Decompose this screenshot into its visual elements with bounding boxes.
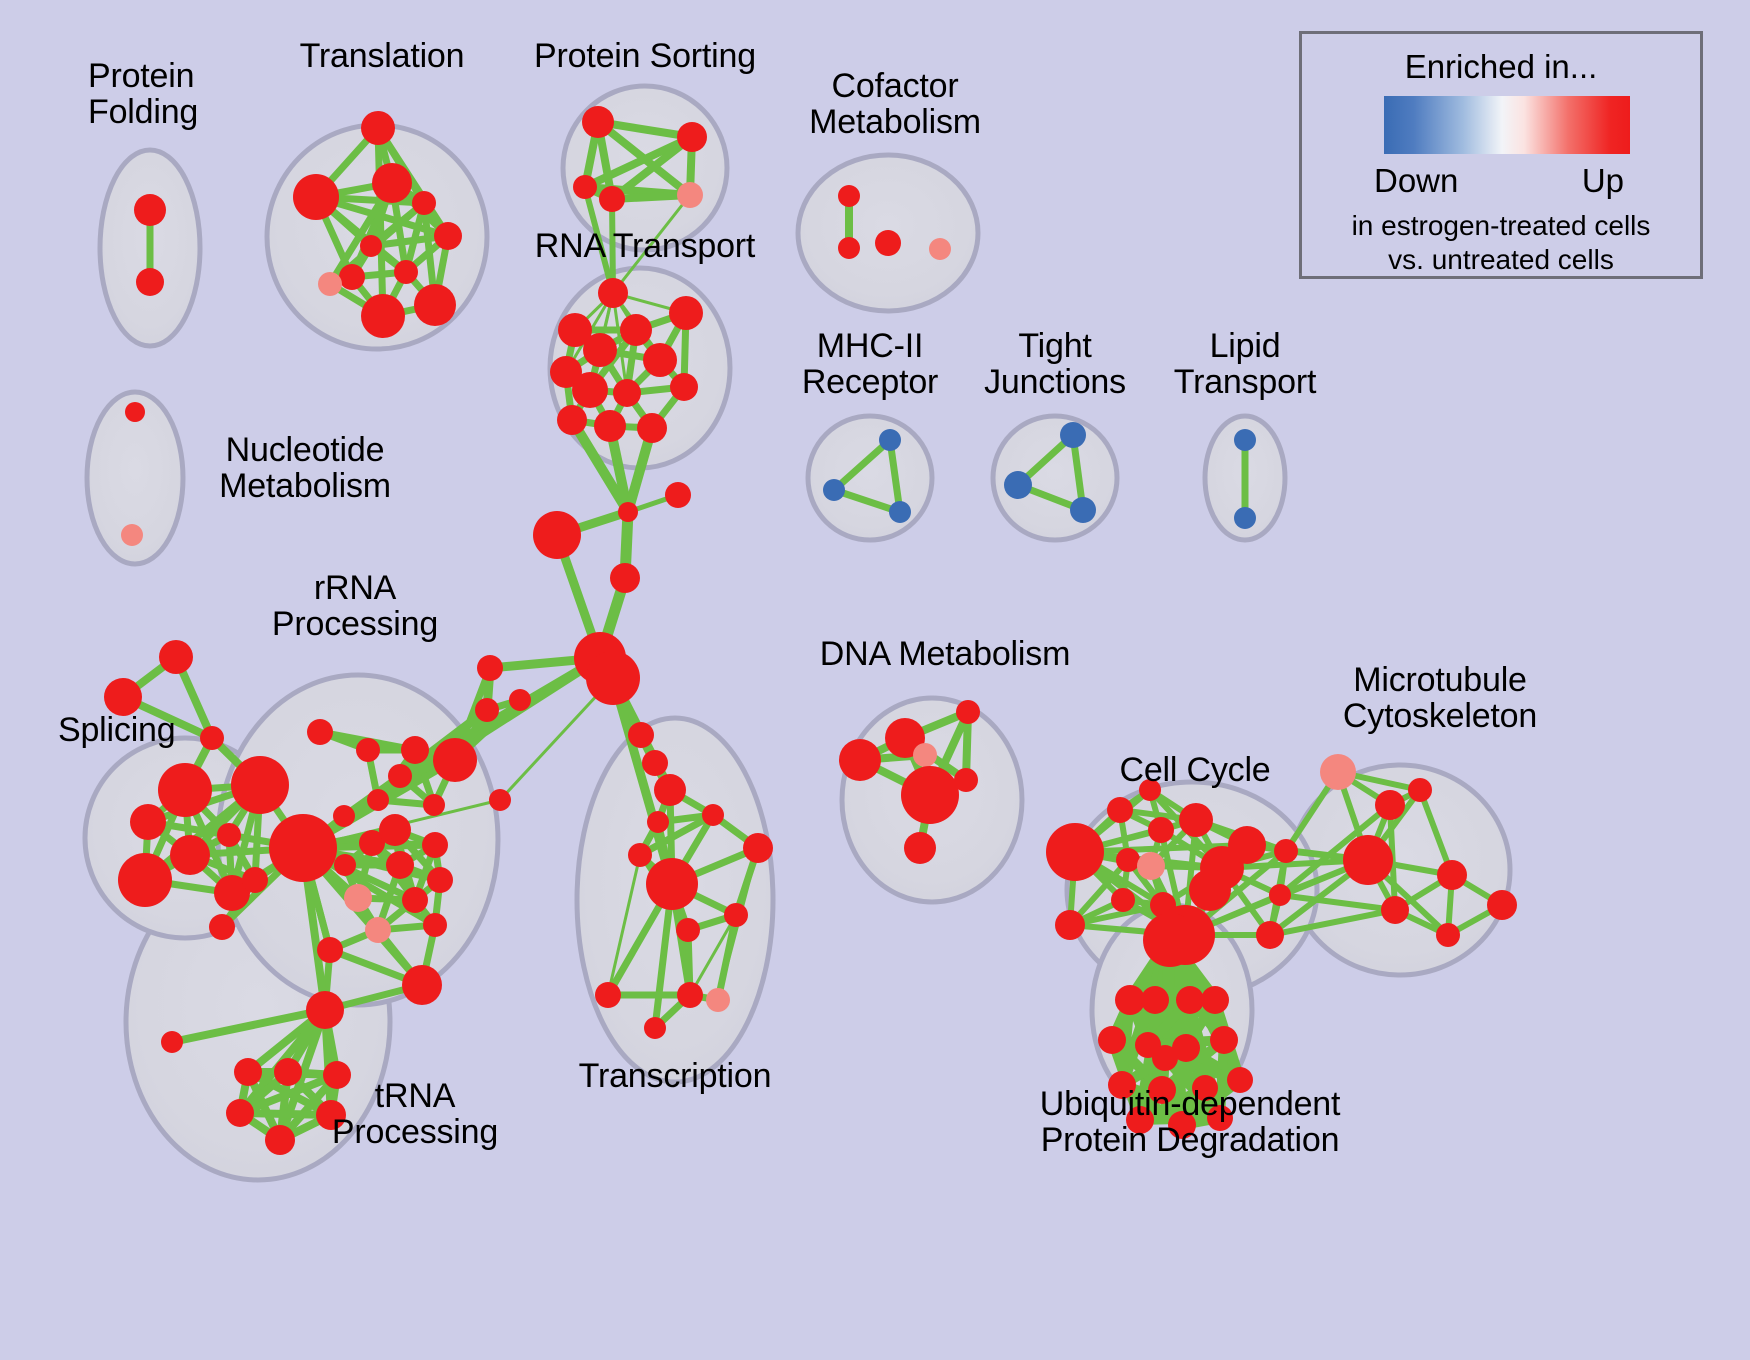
node bbox=[158, 763, 212, 817]
node bbox=[610, 563, 640, 593]
node bbox=[586, 651, 640, 705]
node bbox=[929, 238, 951, 260]
node bbox=[1269, 884, 1291, 906]
node bbox=[904, 832, 936, 864]
node bbox=[572, 372, 608, 408]
legend-up-label: Up bbox=[1582, 162, 1624, 200]
node bbox=[423, 794, 445, 816]
node bbox=[1098, 1026, 1126, 1054]
node bbox=[582, 106, 614, 138]
node bbox=[334, 854, 356, 876]
node bbox=[838, 185, 860, 207]
node bbox=[121, 524, 143, 546]
node bbox=[1107, 797, 1133, 823]
node bbox=[402, 887, 428, 913]
node bbox=[677, 182, 703, 208]
node bbox=[889, 501, 911, 523]
node bbox=[1436, 923, 1460, 947]
node bbox=[509, 689, 531, 711]
node bbox=[1176, 986, 1204, 1014]
node bbox=[401, 736, 429, 764]
node bbox=[677, 982, 703, 1008]
node bbox=[365, 917, 391, 943]
node bbox=[386, 851, 414, 879]
node bbox=[356, 738, 380, 762]
node bbox=[1189, 869, 1231, 911]
node bbox=[677, 122, 707, 152]
node bbox=[647, 811, 669, 833]
node bbox=[620, 314, 652, 346]
node bbox=[379, 814, 411, 846]
node bbox=[1137, 852, 1165, 880]
node bbox=[1381, 896, 1409, 924]
node bbox=[1141, 986, 1169, 1014]
node bbox=[1060, 422, 1086, 448]
legend-title: Enriched in... bbox=[1302, 48, 1700, 86]
node bbox=[598, 278, 628, 308]
node bbox=[1274, 839, 1298, 863]
node bbox=[333, 805, 355, 827]
node bbox=[134, 194, 166, 226]
node bbox=[234, 1058, 262, 1086]
node bbox=[1111, 888, 1135, 912]
node bbox=[1256, 921, 1284, 949]
node bbox=[388, 764, 412, 788]
node bbox=[1437, 860, 1467, 890]
node bbox=[274, 1058, 302, 1086]
node bbox=[823, 479, 845, 501]
node bbox=[306, 991, 344, 1029]
node bbox=[161, 1031, 183, 1053]
node bbox=[136, 268, 164, 296]
legend-caption-line-2: vs. untreated cells bbox=[1302, 244, 1700, 276]
node bbox=[1139, 779, 1161, 801]
node bbox=[646, 858, 698, 910]
node bbox=[1343, 835, 1393, 885]
node bbox=[1108, 1071, 1136, 1099]
node bbox=[1116, 848, 1140, 872]
node bbox=[159, 640, 193, 674]
halo-mhc-ii-receptor bbox=[808, 416, 932, 540]
node bbox=[1207, 1105, 1233, 1131]
node bbox=[1210, 1026, 1238, 1054]
node bbox=[367, 789, 389, 811]
node bbox=[628, 843, 652, 867]
node bbox=[307, 719, 333, 745]
node bbox=[323, 1061, 351, 1089]
node bbox=[743, 833, 773, 863]
node bbox=[489, 789, 511, 811]
node bbox=[118, 853, 172, 907]
node bbox=[1487, 890, 1517, 920]
node bbox=[1227, 1067, 1253, 1093]
node bbox=[1115, 985, 1145, 1015]
node bbox=[394, 260, 418, 284]
node bbox=[226, 1099, 254, 1127]
node bbox=[422, 832, 448, 858]
node bbox=[913, 743, 937, 767]
node bbox=[1004, 471, 1032, 499]
node bbox=[901, 766, 959, 824]
legend-box: Enriched in... Down Up in estrogen-treat… bbox=[1299, 31, 1703, 279]
node bbox=[642, 750, 668, 776]
node bbox=[1055, 910, 1085, 940]
node bbox=[269, 814, 337, 882]
node bbox=[1408, 778, 1432, 802]
node bbox=[475, 698, 499, 722]
node bbox=[644, 1017, 666, 1039]
node bbox=[956, 700, 980, 724]
node bbox=[1234, 507, 1256, 529]
node bbox=[1201, 986, 1229, 1014]
node bbox=[414, 284, 456, 326]
legend-down-label: Down bbox=[1374, 162, 1458, 200]
node bbox=[594, 410, 626, 442]
node bbox=[209, 914, 235, 940]
node bbox=[1192, 1075, 1218, 1101]
node bbox=[595, 982, 621, 1008]
node bbox=[231, 756, 289, 814]
node bbox=[170, 835, 210, 875]
node bbox=[1143, 913, 1197, 967]
node bbox=[665, 482, 691, 508]
node bbox=[724, 903, 748, 927]
node bbox=[200, 726, 224, 750]
node bbox=[1148, 817, 1174, 843]
node bbox=[1126, 1106, 1154, 1134]
node bbox=[242, 867, 268, 893]
node bbox=[838, 237, 860, 259]
node bbox=[130, 804, 166, 840]
node bbox=[104, 678, 142, 716]
legend-caption-line-1: in estrogen-treated cells bbox=[1302, 210, 1700, 242]
node bbox=[628, 722, 654, 748]
node bbox=[316, 1100, 346, 1130]
node bbox=[533, 511, 581, 559]
node bbox=[1148, 1076, 1176, 1104]
node bbox=[618, 502, 638, 522]
node bbox=[1168, 1111, 1196, 1139]
node bbox=[318, 272, 342, 296]
node bbox=[557, 405, 587, 435]
node bbox=[643, 343, 677, 377]
node bbox=[1375, 790, 1405, 820]
node bbox=[344, 884, 372, 912]
node bbox=[879, 429, 901, 451]
node bbox=[317, 937, 343, 963]
node bbox=[477, 655, 503, 681]
node bbox=[702, 804, 724, 826]
node bbox=[706, 988, 730, 1012]
node bbox=[875, 230, 901, 256]
node bbox=[676, 918, 700, 942]
node bbox=[293, 174, 339, 220]
node bbox=[613, 379, 641, 407]
node bbox=[1320, 754, 1356, 790]
node bbox=[1152, 1045, 1178, 1071]
node bbox=[670, 373, 698, 401]
node bbox=[339, 264, 365, 290]
node bbox=[423, 913, 447, 937]
node bbox=[361, 111, 395, 145]
node bbox=[839, 739, 881, 781]
figure-canvas: Protein Folding Translation Protein Sort… bbox=[0, 0, 1750, 1360]
node bbox=[412, 191, 436, 215]
node bbox=[360, 235, 382, 257]
node bbox=[583, 333, 617, 367]
node bbox=[1070, 497, 1096, 523]
node bbox=[669, 296, 703, 330]
node bbox=[599, 186, 625, 212]
node bbox=[427, 867, 453, 893]
node bbox=[573, 175, 597, 199]
node bbox=[434, 222, 462, 250]
legend-color-gradient-bar bbox=[1384, 96, 1630, 154]
node bbox=[125, 402, 145, 422]
node bbox=[654, 774, 686, 806]
node bbox=[433, 738, 477, 782]
node bbox=[265, 1125, 295, 1155]
node bbox=[1234, 429, 1256, 451]
node bbox=[217, 823, 241, 847]
node bbox=[1228, 826, 1266, 864]
node bbox=[1179, 803, 1213, 837]
node bbox=[1046, 823, 1104, 881]
node bbox=[361, 294, 405, 338]
node bbox=[372, 163, 412, 203]
node bbox=[402, 965, 442, 1005]
node bbox=[637, 413, 667, 443]
